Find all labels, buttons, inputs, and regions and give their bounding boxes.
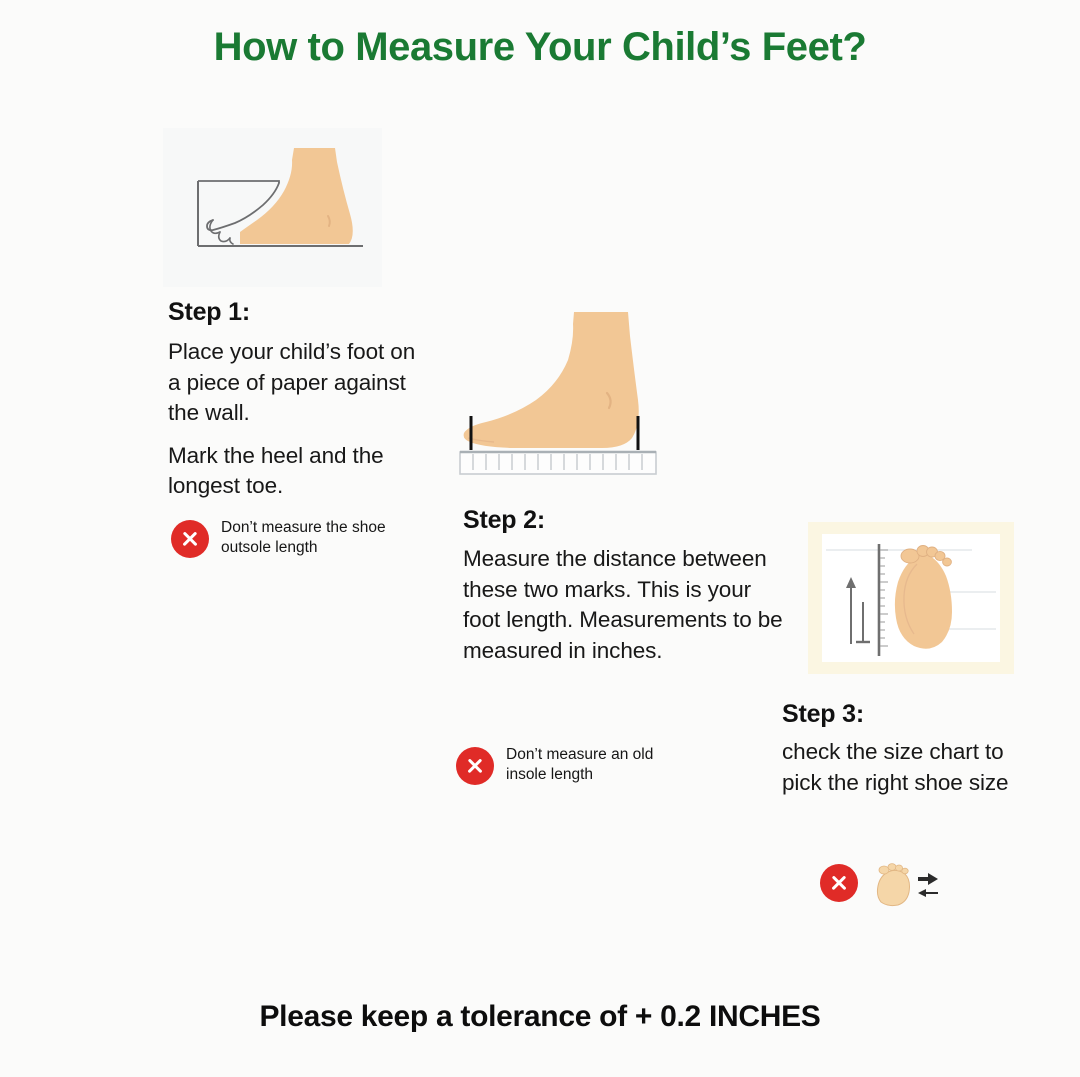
step3-line-1: check the size chart to pick the right s… — [782, 737, 1032, 798]
foot-with-arrows-icon — [870, 862, 942, 908]
step3-text-block: Step 3: check the size chart to pick the… — [782, 700, 1032, 798]
step3-measuring-chart — [822, 534, 1000, 662]
tolerance-note: Please keep a tolerance of + 0.2 INCHES — [0, 1000, 1080, 1034]
red-x-circle-icon — [456, 747, 494, 785]
step1-body: Place your child’s foot on a piece of pa… — [168, 337, 418, 502]
foot-against-wall-illustration — [163, 128, 382, 287]
step1-warning-text: Don’t measure the shoe outsole length — [221, 518, 386, 559]
step1-text-block: Step 1: Place your child’s foot on a pie… — [168, 298, 418, 502]
infographic-canvas: How to Measure Your Child’s Feet? Step 1… — [0, 0, 1080, 1077]
step3-illustration-panel — [808, 522, 1014, 674]
step2-warning-badge: Don’t measure an old insole length — [456, 745, 666, 786]
step3-heading: Step 3: — [782, 700, 1032, 729]
step2-text-block: Step 2: Measure the distance between the… — [463, 506, 783, 666]
red-x-circle-icon — [171, 520, 209, 558]
step3-warning-badge — [820, 862, 990, 908]
step2-body: Measure the distance between these two m… — [463, 544, 783, 666]
step2-line-1: Measure the distance between these two m… — [463, 544, 783, 666]
step1-heading: Step 1: — [168, 298, 418, 327]
step3-body: check the size chart to pick the right s… — [782, 737, 1032, 798]
red-x-circle-icon — [820, 864, 858, 902]
page-title: How to Measure Your Child’s Feet? — [0, 25, 1080, 70]
step1-line-1: Place your child’s foot on a piece of pa… — [168, 337, 418, 429]
foot-sole-on-chart-illustration — [822, 534, 1000, 662]
foot-on-ruler-illustration — [452, 300, 684, 482]
step2-illustration-panel — [452, 300, 684, 482]
step1-warning-badge: Don’t measure the shoe outsole length — [171, 518, 386, 559]
step1-line-2: Mark the heel and the longest toe. — [168, 441, 418, 502]
step2-heading: Step 2: — [463, 506, 783, 535]
step2-warning-text: Don’t measure an old insole length — [506, 745, 666, 786]
step1-illustration-panel — [163, 128, 382, 287]
